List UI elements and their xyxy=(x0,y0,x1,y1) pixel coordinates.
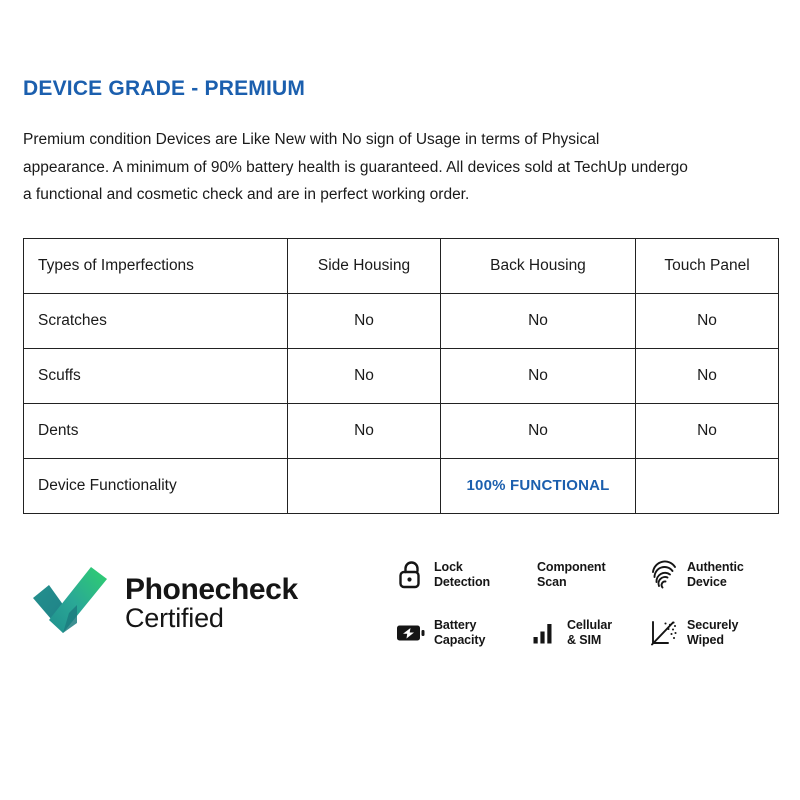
column-header-types: Types of Imperfections xyxy=(24,238,288,293)
page-title: DEVICE GRADE - PREMIUM xyxy=(23,0,777,101)
row-label: Device Functionality xyxy=(24,458,288,513)
row-label: Dents xyxy=(24,403,288,458)
cell-side-housing: No xyxy=(288,403,441,458)
imperfections-table: Types of Imperfections Side Housing Back… xyxy=(23,238,779,514)
cell-touch-panel: No xyxy=(636,348,779,403)
badge-label: Cellular & SIM xyxy=(567,618,612,649)
column-header-back-housing: Back Housing xyxy=(441,238,636,293)
badge-lock-detection: Lock Detection xyxy=(396,560,529,591)
table-row: Scratches No No No xyxy=(24,293,779,348)
cell-side-housing: No xyxy=(288,293,441,348)
table-header-row: Types of Imperfections Side Housing Back… xyxy=(24,238,779,293)
badge-component-scan: Component Scan xyxy=(529,560,649,591)
fingerprint-icon xyxy=(649,560,679,590)
badge-label: Securely Wiped xyxy=(687,618,738,649)
badge-label: Authentic Device xyxy=(687,560,744,591)
certification-footer: Phonecheck Certified Lock Detection xyxy=(23,546,777,662)
column-header-side-housing: Side Housing xyxy=(288,238,441,293)
badge-cellular-sim: Cellular & SIM xyxy=(529,618,649,649)
cell-back-housing: No xyxy=(441,348,636,403)
grade-description: Premium condition Devices are Like New w… xyxy=(23,101,688,209)
cell-back-housing: No xyxy=(441,293,636,348)
certification-badges: Lock Detection Component Scan xyxy=(396,546,744,662)
logo-subtitle: Certified xyxy=(125,605,298,633)
status-badge-functional: 100% FUNCTIONAL xyxy=(441,458,636,513)
logo-name: Phonecheck xyxy=(125,575,298,606)
signal-bars-icon xyxy=(529,618,559,648)
table-row: Device Functionality 100% FUNCTIONAL xyxy=(24,458,779,513)
table-row: Scuffs No No No xyxy=(24,348,779,403)
row-label: Scratches xyxy=(24,293,288,348)
lock-open-icon xyxy=(396,560,426,590)
badge-securely-wiped: Securely Wiped xyxy=(649,618,744,649)
badge-label: Battery Capacity xyxy=(434,618,485,649)
securely-wiped-icon xyxy=(649,618,679,648)
badge-authentic-device: Authentic Device xyxy=(649,560,744,591)
checkmark-icon xyxy=(33,565,111,642)
badge-label: Lock Detection xyxy=(434,560,490,591)
cell-side-housing xyxy=(288,458,441,513)
cell-touch-panel: No xyxy=(636,403,779,458)
battery-bolt-icon xyxy=(396,618,426,648)
phonecheck-logo: Phonecheck Certified xyxy=(33,565,388,642)
badge-battery-capacity: Battery Capacity xyxy=(396,618,529,649)
cell-back-housing: No xyxy=(441,403,636,458)
phonecheck-wordmark: Phonecheck Certified xyxy=(125,575,298,634)
cell-side-housing: No xyxy=(288,348,441,403)
row-label: Scuffs xyxy=(24,348,288,403)
device-grade-card: DEVICE GRADE - PREMIUM Premium condition… xyxy=(0,0,800,800)
badge-label: Component Scan xyxy=(537,560,606,591)
table-row: Dents No No No xyxy=(24,403,779,458)
column-header-touch-panel: Touch Panel xyxy=(636,238,779,293)
cell-touch-panel: No xyxy=(636,293,779,348)
cell-touch-panel xyxy=(636,458,779,513)
